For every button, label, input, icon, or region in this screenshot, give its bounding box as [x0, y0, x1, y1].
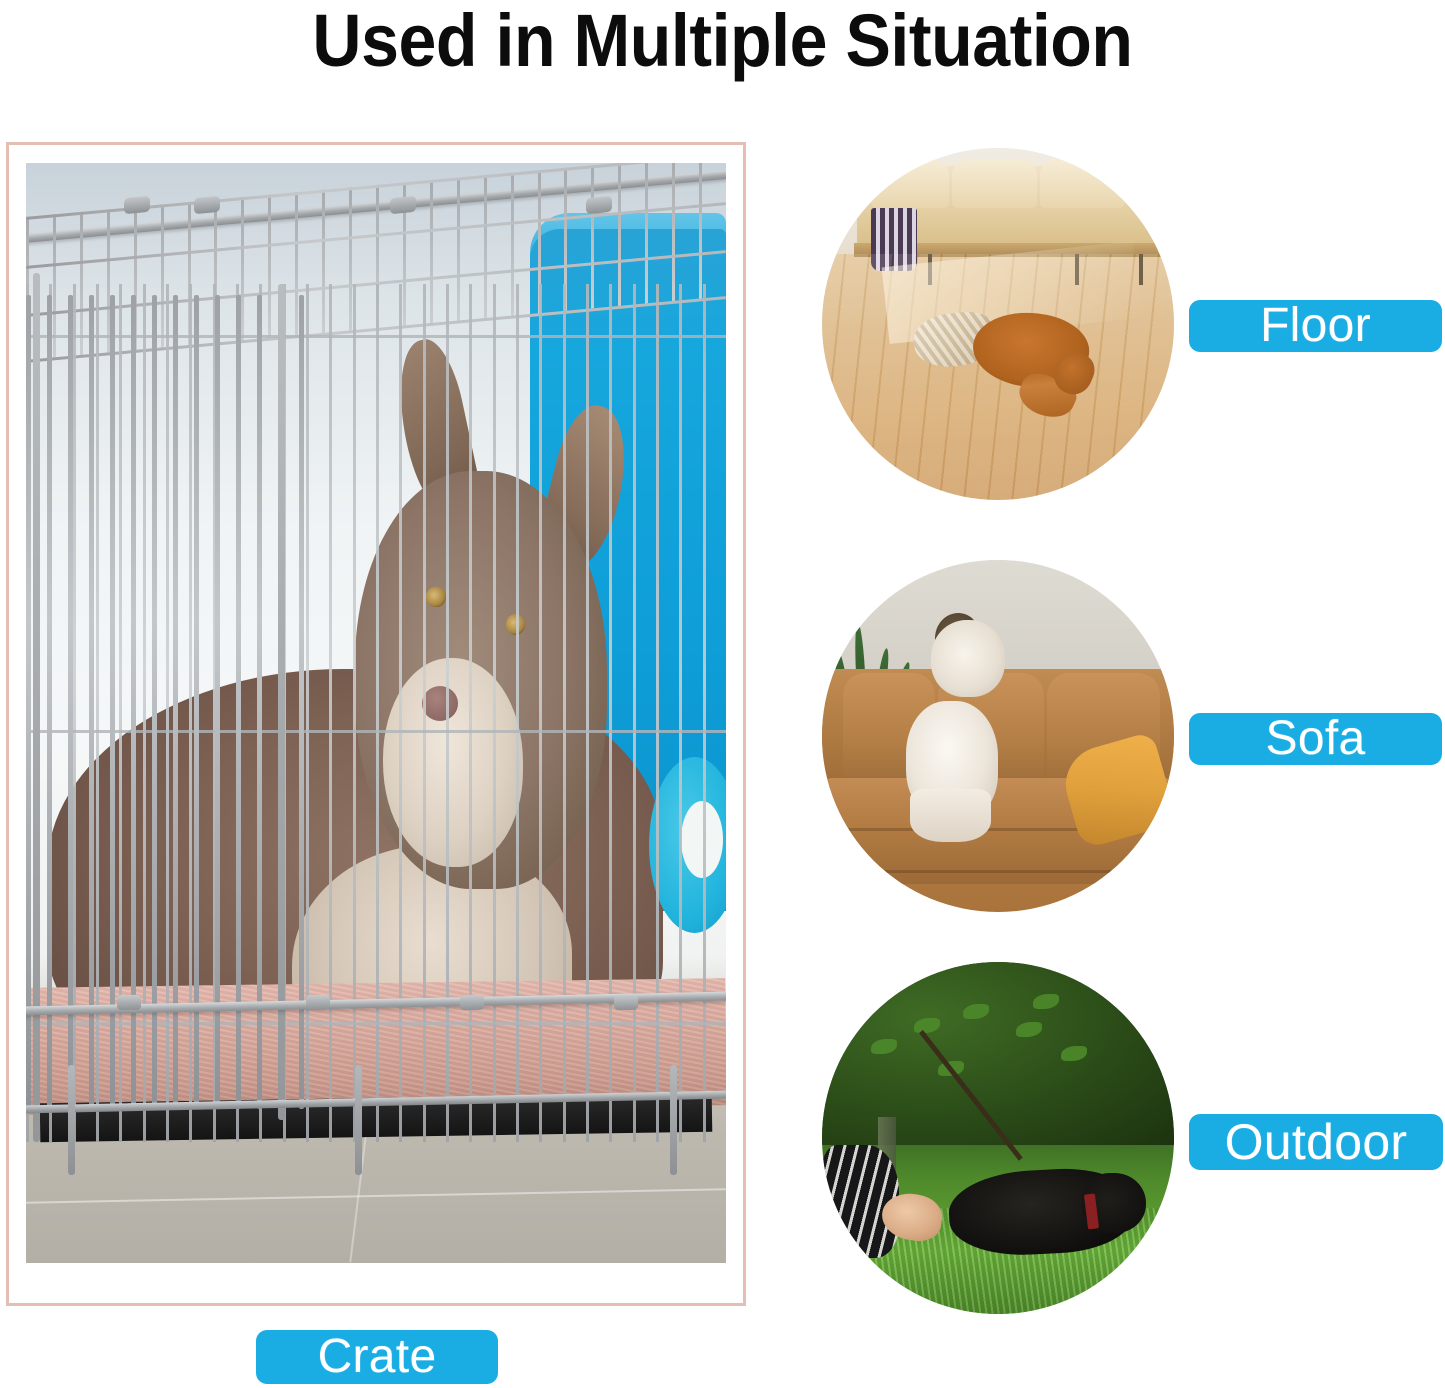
crate-leg	[68, 1065, 75, 1175]
crate-door-panel	[26, 295, 299, 1109]
crate-door-wire	[173, 295, 178, 1109]
scene-circle-floor	[822, 148, 1174, 500]
crate-door-wire	[110, 295, 115, 1109]
scene-circle-outdoor	[822, 962, 1174, 1314]
page-title: Used in Multiple Situation	[58, 0, 1387, 83]
crate-leg	[355, 1065, 362, 1175]
crate-front-wire	[423, 284, 426, 1142]
floor-sofa-cushion	[871, 159, 948, 208]
sofa-dog-head	[931, 620, 1005, 697]
crate-top-wire	[699, 163, 702, 299]
crate-clip	[194, 196, 220, 214]
floor-sofa-cushion	[1040, 159, 1124, 208]
sofa-dog-legs	[910, 789, 991, 842]
crate-front-wire	[703, 284, 706, 1142]
crate-front-wire	[353, 284, 356, 1142]
crate-front-wire	[446, 284, 449, 1142]
crate-base-clip	[117, 994, 141, 1009]
crate-clip	[586, 196, 612, 214]
crate-door-wire	[215, 295, 220, 1109]
crate-photo-frame	[6, 142, 746, 1306]
crate-door-wire	[299, 295, 304, 1109]
crate-door-wire	[194, 295, 199, 1109]
badge-outdoor[interactable]: Outdoor	[1189, 1114, 1443, 1170]
crate-door-wire	[131, 295, 136, 1109]
crate-front-wire	[539, 284, 542, 1142]
scene-circle-sofa	[822, 560, 1174, 912]
crate-base-clip	[460, 994, 484, 1009]
crate-photo	[26, 163, 726, 1263]
sofa-scene	[822, 560, 1174, 912]
floor-scene	[822, 148, 1174, 500]
outdoor-scene	[822, 962, 1174, 1314]
crate-door-wire	[236, 295, 241, 1109]
crate-front-wire	[306, 284, 309, 1142]
crate-front-wire	[656, 284, 659, 1142]
crate-front-wire	[329, 284, 332, 1142]
crate-front-wire	[516, 284, 519, 1142]
crate-leg	[670, 1065, 677, 1175]
crate-door-wire	[47, 295, 52, 1109]
badge-floor[interactable]: Floor	[1189, 300, 1442, 352]
crate-clip	[124, 196, 150, 214]
crate-front-wire	[679, 284, 682, 1142]
crate-door-frame-right	[278, 284, 285, 1120]
crate-base-clip	[614, 994, 638, 1009]
crate-door-wire	[89, 295, 94, 1109]
crate-door-wire	[26, 295, 31, 1109]
floor-sofa-cushion	[952, 159, 1036, 208]
crate-front-wire	[586, 284, 589, 1142]
crate-base-clip	[306, 994, 330, 1009]
crate-front-wire	[399, 284, 402, 1142]
crate-front-wire	[493, 284, 496, 1142]
crate-top-wire	[645, 163, 648, 303]
crate-front-wire	[609, 284, 612, 1142]
crate-top-wire	[672, 163, 675, 301]
crate-clip	[390, 196, 416, 214]
badge-crate[interactable]: Crate	[256, 1330, 498, 1384]
crate-front-wire	[469, 284, 472, 1142]
badge-sofa[interactable]: Sofa	[1189, 713, 1442, 765]
crate-door-wire	[152, 295, 157, 1109]
crate-front-wire	[633, 284, 636, 1142]
crate-door-wire	[257, 295, 262, 1109]
crate-door-wire	[68, 295, 73, 1109]
crate-front-wire	[563, 284, 566, 1142]
sofa-seat-seam	[822, 870, 1174, 873]
crate-front-wire	[376, 284, 379, 1142]
